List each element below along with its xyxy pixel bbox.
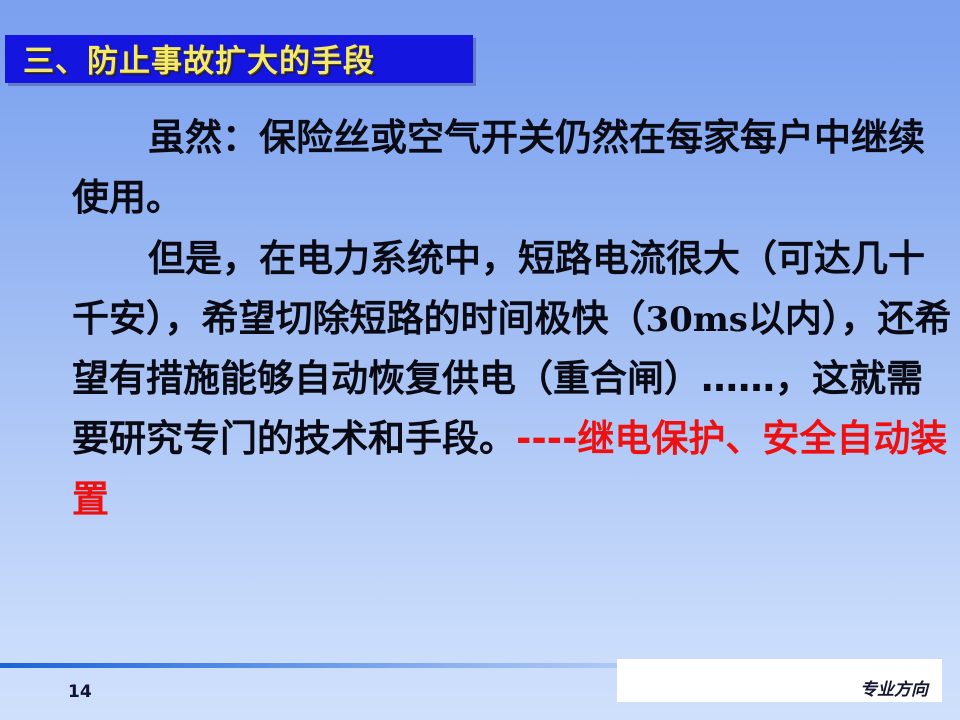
body-paragraph-2: 但是，在电力系统中，短路电流很大（可达几十千安），希望切除短路的时间极快（30m… (72, 229, 952, 530)
slide-title-bar: 三、防止事故扩大的手段 (5, 35, 473, 83)
slide-body-text: 虽然：保险丝或空气开关仍然在每家每户中继续使用。 但是，在电力系统中，短路电流很… (72, 108, 952, 530)
page-title: 三、防止事故扩大的手段 (23, 36, 375, 81)
footer-box-label: 专业方向 (860, 675, 928, 700)
slide-canvas: 三、防止事故扩大的手段 虽然：保险丝或空气开关仍然在每家每户中继续使用。 但是，… (0, 0, 960, 720)
footer-label-box: 专业方向 (617, 659, 942, 702)
body-run-p1-main: 虽然：保险丝或空气开关仍然在每家每户中继续使用。 (72, 116, 925, 219)
body-run-p2-duration-value: 30ms (646, 300, 748, 340)
page-number: 14 (68, 682, 92, 702)
body-paragraph-1: 虽然：保险丝或空气开关仍然在每家每户中继续使用。 (72, 108, 952, 229)
